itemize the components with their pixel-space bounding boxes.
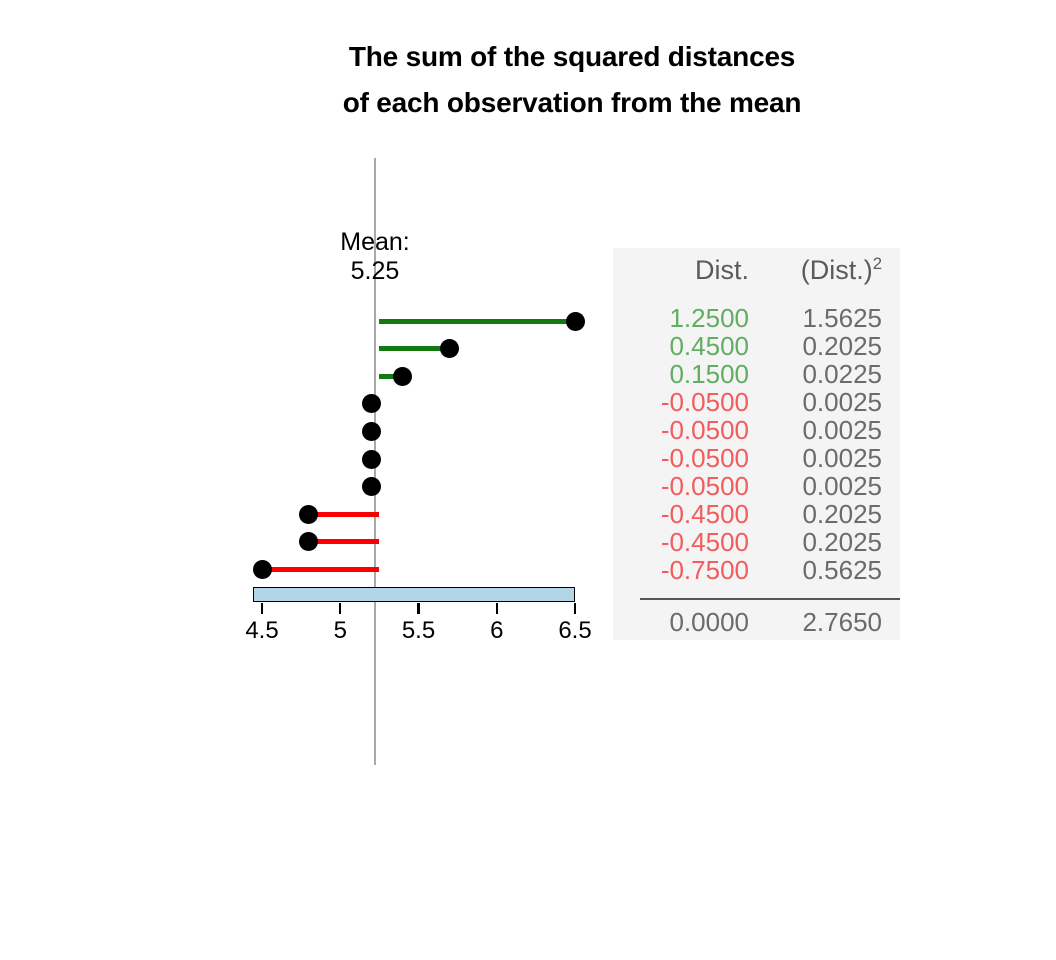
observation-point [362,394,381,413]
cell-distance-squared: 0.5625 [761,556,900,584]
table-total-row: 0.0000 2.7650 [613,604,900,640]
observation-point [299,505,318,524]
deviation-stem [262,567,379,572]
deviation-stem [379,319,575,324]
observation-point [440,339,459,358]
x-axis-tick-mark [417,603,419,614]
observation-point [362,422,381,441]
table-total-divider [640,598,900,600]
table-row: 1.25001.5625 [613,304,900,332]
deviation-stem [309,539,379,544]
table-body: 1.25001.56250.45000.20250.15000.0225-0.0… [613,304,900,584]
observation-point [362,477,381,496]
cell-distance-squared: 0.0025 [761,416,900,444]
cell-distance-squared: 0.2025 [761,528,900,556]
x-axis-tick-label: 5 [300,617,380,645]
observation-point [393,367,412,386]
figure-canvas: The sum of the squared distances of each… [0,0,1056,960]
cell-distance: 0.1500 [613,360,761,388]
cell-distance: -0.4500 [613,528,761,556]
cell-distance: -0.0500 [613,472,761,500]
x-axis-tick-label: 4.5 [222,617,302,645]
cell-distance: -0.0500 [613,388,761,416]
table-row: 0.15000.0225 [613,360,900,388]
deviation-stem [379,346,449,351]
table-row: -0.75000.5625 [613,556,900,584]
cell-distance-squared: 0.2025 [761,500,900,528]
table-row: -0.45000.2025 [613,528,900,556]
total-dist-value: 0.0000 [613,604,761,640]
x-axis-tick-mark [339,603,341,614]
x-axis-tick-mark [261,603,263,614]
column-header-dist-squared: (Dist.)2 [761,248,900,292]
column-header-dist-squared-base: (Dist.) [801,255,873,285]
table-row: -0.05000.0025 [613,472,900,500]
x-axis-tick-mark [574,603,576,614]
total-dist-squared-value: 2.7650 [761,604,900,640]
cell-distance-squared: 0.0025 [761,388,900,416]
x-axis-tick-label: 6 [457,617,537,645]
column-header-dist: Dist. [613,248,761,292]
cell-distance-squared: 0.0225 [761,360,900,388]
cell-distance: -0.7500 [613,556,761,584]
mean-annotation-value: 5.25 [275,257,475,286]
deviation-stem [309,512,379,517]
cell-distance: -0.0500 [613,444,761,472]
x-axis-tick-label: 6.5 [535,617,615,645]
x-axis-tick-mark [496,603,498,614]
axis-range-bar [253,587,575,602]
cell-distance-squared: 0.2025 [761,332,900,360]
observation-point [566,312,585,331]
table-row: -0.05000.0025 [613,444,900,472]
plot-area: Mean: 5.25 4.555.566.5 [0,0,620,800]
cell-distance-squared: 1.5625 [761,304,900,332]
observation-point [362,450,381,469]
observation-point [253,560,272,579]
column-header-exponent: 2 [873,254,882,273]
cell-distance: -0.4500 [613,500,761,528]
cell-distance: 0.4500 [613,332,761,360]
table-row: 0.45000.2025 [613,332,900,360]
distance-table: Dist. (Dist.)2 1.25001.56250.45000.20250… [613,248,900,584]
table-header-row: Dist. (Dist.)2 [613,248,900,292]
cell-distance: 1.2500 [613,304,761,332]
table-row: -0.45000.2025 [613,500,900,528]
table-row: -0.05000.0025 [613,416,900,444]
observation-point [299,532,318,551]
cell-distance-squared: 0.0025 [761,444,900,472]
cell-distance: -0.0500 [613,416,761,444]
table-row: -0.05000.0025 [613,388,900,416]
cell-distance-squared: 0.0025 [761,472,900,500]
mean-annotation-label: Mean: [275,228,475,257]
mean-annotation: Mean: 5.25 [275,228,475,286]
x-axis-tick-label: 5.5 [379,617,459,645]
